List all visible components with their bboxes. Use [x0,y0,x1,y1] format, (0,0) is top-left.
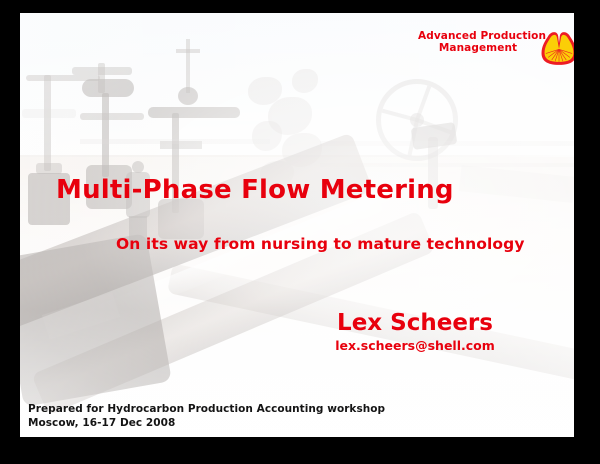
slide-canvas: Advanced Production Management [20,13,574,437]
footer-block: Prepared for Hydrocarbon Production Acco… [28,402,385,431]
author-name: Lex Scheers [320,310,510,336]
footer-line-1: Prepared for Hydrocarbon Production Acco… [28,402,385,416]
brand-line-1: Advanced Production [418,30,538,42]
shell-pecten-logo-icon [540,28,574,66]
page-subtitle: On its way from nursing to mature techno… [116,235,525,253]
author-email[interactable]: lex.scheers@shell.com [320,338,510,353]
footer-line-2: Moscow, 16-17 Dec 2008 [28,416,385,430]
author-block: Lex Scheers lex.scheers@shell.com [320,310,510,353]
slide-content: Advanced Production Management [20,13,574,437]
brand-text-block: Advanced Production Management [418,30,538,55]
slide-root: Advanced Production Management [0,0,600,464]
page-title: Multi-Phase Flow Metering [56,175,454,205]
brand-line-2: Management [418,42,538,54]
